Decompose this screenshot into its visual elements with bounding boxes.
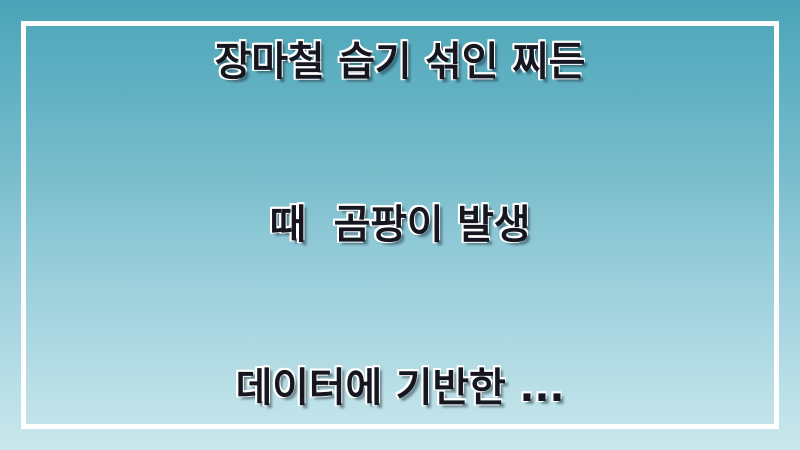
headline-line-3: 데이터에 기반한 ... [215,368,586,408]
headline-block: 장마철 습기 섞인 찌든 때 곰팡이 발생 데이터에 기반한 ... [0,0,800,450]
headline-line-1: 장마철 습기 섞인 찌든 [215,42,586,82]
headline-line-2: 때 곰팡이 발생 [215,205,586,245]
banner-card: 장마철 습기 섞인 찌든 때 곰팡이 발생 데이터에 기반한 ... [0,0,800,450]
headline: 장마철 습기 섞인 찌든 때 곰팡이 발생 데이터에 기반한 ... [215,0,586,450]
